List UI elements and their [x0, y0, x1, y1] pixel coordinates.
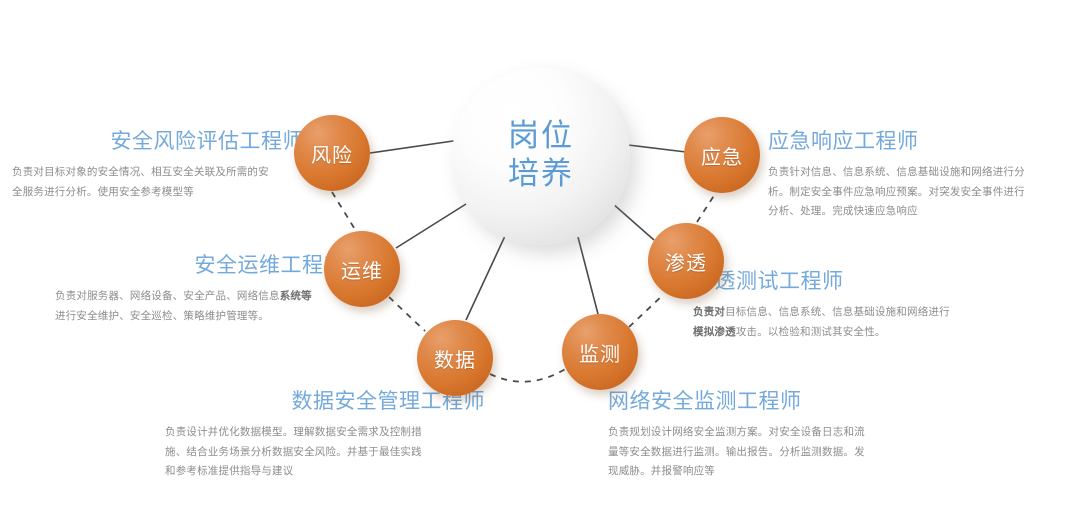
block-risk-desc: 负责对目标对象的安全情况、相互安全关联及所需的安 全服务进行分析。使用安全参考模…	[12, 163, 304, 202]
node-data-label: 数据	[434, 344, 476, 373]
block-risk-title: 安全风险评估工程师	[12, 128, 304, 154]
node-pentest[interactable]: 渗透	[648, 223, 724, 299]
hub-circle[interactable]: 岗位 培养	[452, 67, 630, 245]
block-data-desc: 负责设计并优化数据模型。理解数据安全需求及控制措 施、结合业务场景分析数据安全风…	[165, 423, 485, 481]
node-monitor[interactable]: 监测	[562, 314, 638, 390]
edge-hub-ops	[396, 199, 474, 248]
block-ops: 安全运维工程师 负责对服务器、网络设备、安全产品、网络信息系统等进行安全维护、安…	[55, 252, 345, 326]
block-pentest-desc: 负责对目标信息、信息系统、信息基础设施和网络进行模拟渗透攻击。以检验和测试其安全…	[693, 303, 1013, 342]
edge-hub-monitor	[578, 237, 598, 314]
block-pentest-desc-plain1: 目标信息、信息系统、信息基础设施和网络进行	[725, 306, 950, 318]
block-pentest-desc-bold1: 负责对	[693, 306, 725, 318]
block-ops-desc-plain: 负责对服务器、网络设备、安全产品、网络信息	[55, 290, 280, 302]
node-risk-label: 风险	[311, 139, 353, 168]
block-pentest: 渗透测试工程师 负责对目标信息、信息系统、信息基础设施和网络进行模拟渗透攻击。以…	[693, 268, 1013, 342]
job-training-diagram: 岗位 培养 风险 运维 数据 监测 渗透 应急 安全风险评估工程师 负责对目标对…	[0, 0, 1080, 518]
node-monitor-label: 监测	[579, 338, 621, 367]
node-data[interactable]: 数据	[417, 320, 493, 396]
hub-label: 岗位 培养	[508, 118, 574, 194]
node-emergency[interactable]: 应急	[684, 117, 760, 193]
edge-hub-data	[466, 236, 505, 320]
node-ops[interactable]: 运维	[324, 231, 400, 307]
edge-ops-data	[389, 297, 425, 331]
edge-hub-emergency	[628, 145, 686, 152]
block-monitor: 网络安全监测工程师 负责规划设计网络安全监测方案。对安全设备日志和流 量等安全数…	[608, 388, 908, 482]
node-risk[interactable]: 风险	[294, 115, 370, 191]
block-data: 数据安全管理工程师 负责设计并优化数据模型。理解数据安全需求及控制措 施、结合业…	[165, 388, 485, 482]
block-ops-title: 安全运维工程师	[55, 252, 345, 278]
block-ops-desc-rest: 进行安全维护、安全巡检、策略维护管理等。	[55, 310, 269, 322]
block-pentest-title: 渗透测试工程师	[693, 268, 1013, 294]
edge-hub-pentest	[612, 203, 654, 240]
block-emergency: 应急响应工程师 负责针对信息、信息系统、信息基础设施和网络进行分 析。制定安全事…	[768, 128, 1068, 222]
node-emergency-label: 应急	[701, 141, 743, 170]
edge-risk-ops	[332, 192, 356, 231]
block-monitor-desc: 负责规划设计网络安全监测方案。对安全设备日志和流 量等安全数据进行监测。输出报告…	[608, 423, 908, 481]
block-emergency-desc: 负责针对信息、信息系统、信息基础设施和网络进行分 析。制定安全事件应急响应预案。…	[768, 163, 1068, 221]
edge-pentest-emerg	[697, 194, 715, 222]
block-risk: 安全风险评估工程师 负责对目标对象的安全情况、相互安全关联及所需的安 全服务进行…	[12, 128, 304, 202]
block-emergency-title: 应急响应工程师	[768, 128, 1068, 154]
edge-data-monitor	[490, 368, 567, 382]
node-pentest-label: 渗透	[665, 247, 707, 276]
block-pentest-desc-bold2: 模拟渗透	[693, 326, 736, 338]
block-monitor-title: 网络安全监测工程师	[608, 388, 908, 414]
block-pentest-desc-plain2: 攻击。以检验和测试其安全性。	[736, 326, 886, 338]
edge-monitor-pentest	[629, 295, 663, 327]
block-ops-desc: 负责对服务器、网络设备、安全产品、网络信息系统等进行安全维护、安全巡检、策略维护…	[55, 287, 345, 326]
block-ops-desc-bold: 系统等	[280, 290, 312, 302]
edge-hub-risk	[370, 140, 460, 153]
node-ops-label: 运维	[341, 255, 383, 284]
